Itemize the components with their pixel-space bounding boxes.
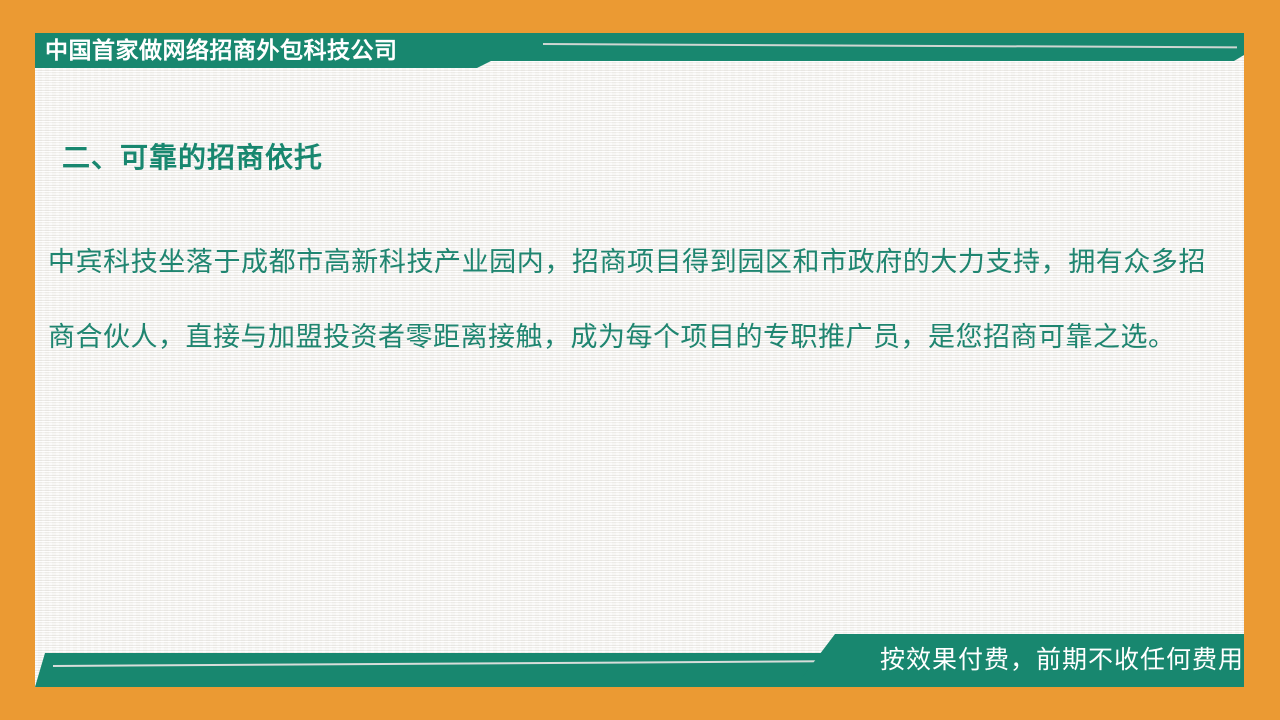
slide-root: 中国首家做网络招商外包科技公司 二、可靠的招商依托 中宾科技坐落于成都市高新科技… <box>0 0 1280 720</box>
body-paragraph: 中宾科技坐落于成都市高新科技产业园内，招商项目得到园区和市政府的大力支持，拥有众… <box>48 225 1206 375</box>
content-area: 二、可靠的招商依托 中宾科技坐落于成都市高新科技产业园内，招商项目得到园区和市政… <box>35 33 1244 687</box>
section-heading: 二、可靠的招商依托 <box>62 136 323 176</box>
slide-canvas: 中国首家做网络招商外包科技公司 二、可靠的招商依托 中宾科技坐落于成都市高新科技… <box>35 33 1244 687</box>
